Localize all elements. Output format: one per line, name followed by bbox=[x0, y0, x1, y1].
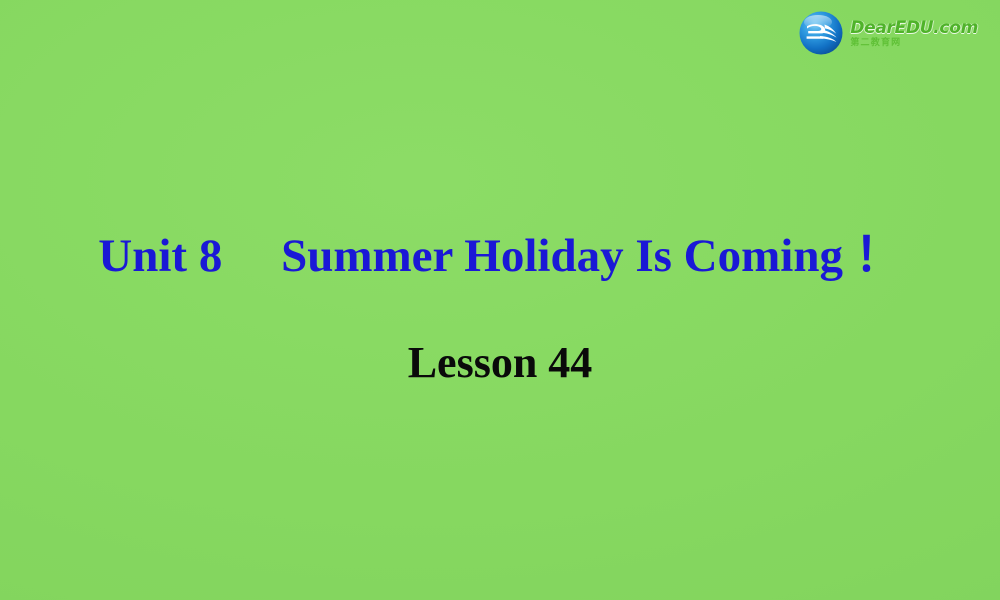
slide-title: Unit 8 Summer Holiday Is Coming ！ bbox=[0, 232, 1000, 281]
globe-swoosh-icon bbox=[798, 10, 844, 56]
logo-text-block: DearEDU.com 第二教育网 bbox=[850, 18, 978, 48]
logo-sub-wordmark: 第二教育网 bbox=[850, 39, 978, 48]
dearedu-logo: DearEDU.com 第二教育网 bbox=[798, 9, 978, 57]
slide-canvas: DearEDU.com 第二教育网 Unit 8 Summer Holiday … bbox=[0, 0, 1000, 600]
slide-subtitle: Lesson 44 bbox=[0, 340, 1000, 386]
logo-wordmark: DearEDU.com bbox=[850, 20, 978, 37]
